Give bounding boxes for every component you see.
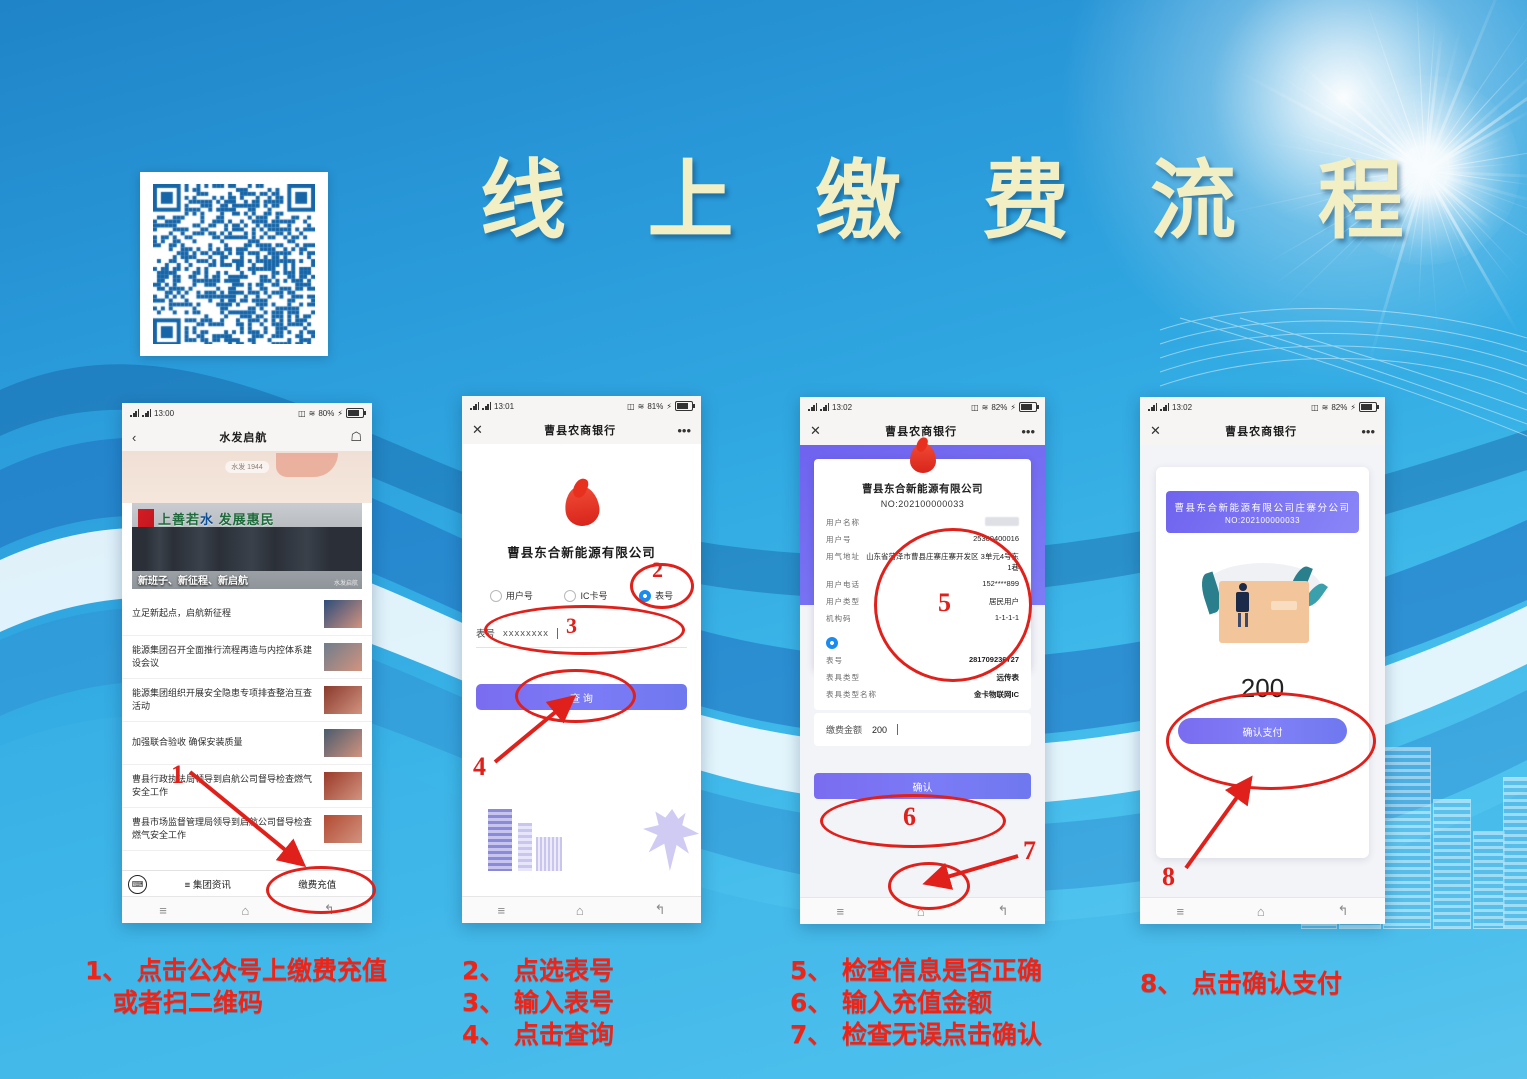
amount-label: 缴费金额: [826, 723, 862, 736]
radio-label: IC卡号: [580, 589, 607, 602]
nav-bar-2: ✕ 曹县农商银行 •••: [462, 416, 701, 444]
phone2-content: 曹县东合新能源有限公司 用户号IC卡号表号 表号 xxxxxxxx 查 询: [462, 444, 701, 897]
hero-slogan: 上善若水 发展惠民: [158, 509, 275, 528]
caption-text: 检查无误点击确认: [842, 1020, 1042, 1049]
recharge-amount-input[interactable]: 缴费金额 200: [814, 713, 1031, 746]
meter-field-row: 表号281709236727: [826, 655, 1019, 666]
branch-no: NO:202100000033: [1225, 516, 1300, 525]
news-list-item[interactable]: 能源集团组织开展安全隐患专项排查整治互查活动: [122, 679, 372, 722]
wifi-icon: ≋: [1322, 403, 1329, 412]
battery-icon: [675, 401, 693, 411]
account-field-row: 用户名称XXXXXX: [826, 517, 1019, 528]
news-item-title: 加强联合验收 确保安装质量: [132, 736, 318, 749]
radio-option-0[interactable]: 用户号: [490, 589, 533, 602]
caption-index: 7、: [790, 1019, 842, 1051]
caption-index: 3、: [462, 987, 514, 1019]
flame-logo-icon: [910, 443, 936, 473]
signal-icon-2: [820, 403, 829, 411]
battery-icon: [1019, 402, 1037, 412]
field-value: 152****899: [982, 579, 1019, 588]
system-nav-4: ≡ ⌂ ↰: [1140, 897, 1385, 924]
account-field-row: 用户类型居民用户: [826, 596, 1019, 607]
close-icon[interactable]: ✕: [810, 423, 821, 439]
news-item-thumbnail: [324, 772, 362, 800]
back-chevron-icon[interactable]: ‹: [132, 430, 136, 445]
person-figure: [1235, 583, 1251, 627]
battery-icon: [346, 408, 364, 418]
meter-field-list: 表号281709236727表具类型远传表表具类型名称金卡物联网IC: [826, 655, 1019, 700]
phone1-content: 水发 1944 上善若水 发展惠民 新班子、新征程、新启航 水发启航 立足新起点…: [122, 451, 372, 897]
phone2-title: 曹县农商银行: [544, 422, 616, 438]
signal-icon: [470, 402, 479, 410]
tab-pay-recharge[interactable]: 缴费充值: [263, 877, 373, 891]
meter-number-input[interactable]: 表号 xxxxxxxx: [476, 626, 687, 648]
caption-index: 2、: [462, 955, 514, 987]
user-icon[interactable]: ☖: [350, 429, 362, 445]
hero-people-photo: [132, 527, 362, 571]
field-key: 用户电话: [826, 579, 860, 590]
phone3-content: 曹县东合新能源有限公司 NO:202100000033 用户名称XXXXXX用户…: [800, 445, 1045, 898]
news-list-item[interactable]: 立足新起点，启航新征程: [122, 593, 372, 636]
account-field-row: 机构码1-1-1-1: [826, 613, 1019, 624]
news-item-thumbnail: [324, 600, 362, 628]
payment-illustration: [1193, 555, 1333, 659]
news-item-title: 曹县行政执法局领导到启航公司督导检查燃气安全工作: [132, 773, 318, 799]
sys-home-icon[interactable]: ⌂: [917, 904, 925, 919]
news-list-item[interactable]: 曹县市场监督管理局领导到启航公司督导检查燃气安全工作: [122, 808, 372, 851]
branch-banner: 曹县东合新能源有限公司庄寨分公司 NO:202100000033: [1166, 491, 1359, 533]
caption-text: 检查信息是否正确: [842, 956, 1042, 985]
sys-home-icon[interactable]: ⌂: [241, 903, 249, 918]
signal-icon-2: [1160, 403, 1169, 411]
system-nav-3: ≡ ⌂ ↰: [800, 897, 1045, 924]
phone-mockup-4: 13:02 ◫ ≋ 82% ⚡ ✕ 曹县农商银行 ••• 曹县东合新能源有限公司…: [1140, 397, 1385, 924]
news-item-title: 能源集团组织开展安全隐患专项排查整治互查活动: [132, 687, 318, 713]
meter-field-row: 表具类型名称金卡物联网IC: [826, 689, 1019, 700]
caption-line: 5、检查信息是否正确: [790, 955, 1042, 987]
caption-1-line1: 点击公众号上缴费充值: [137, 956, 387, 985]
status-bar-3: 13:02 ◫ ≋ 82% ⚡: [800, 397, 1045, 417]
radio-option-1[interactable]: IC卡号: [564, 589, 607, 602]
field-key: 表具类型: [826, 672, 860, 683]
account-field-row: 用户号25300400016: [826, 534, 1019, 545]
mini-tabbar: ⌨ ≡ 集团资讯 缴费充值: [122, 870, 372, 897]
meter-select-block[interactable]: 表号281709236727表具类型远传表表具类型名称金卡物联网IC: [814, 627, 1031, 710]
card-no: NO:202100000033: [826, 499, 1019, 509]
caption-column-3: 5、检查信息是否正确6、输入充值金额7、检查无误点击确认: [790, 955, 1042, 1051]
status-time: 13:02: [832, 403, 852, 412]
battery-percent: 82%: [991, 403, 1007, 412]
building-shape: [1503, 777, 1527, 929]
field-key: 用气地址: [826, 551, 860, 562]
caption-line: 6、输入充值金额: [790, 987, 1042, 1019]
sys-menu-icon[interactable]: ≡: [497, 903, 505, 918]
input-label: 表号: [476, 626, 495, 640]
caption-text: 输入充值金额: [842, 988, 992, 1017]
banner-swash: [276, 453, 338, 477]
news-item-thumbnail: [324, 729, 362, 757]
charging-icon: ⚡: [666, 402, 672, 411]
sim-icon: ◫: [1311, 403, 1319, 412]
radio-label: 表号: [655, 589, 673, 602]
sim-icon: ◫: [627, 402, 635, 411]
status-time: 13:00: [154, 409, 174, 418]
system-nav-2: ≡ ⌂ ↰: [462, 896, 701, 923]
more-icon[interactable]: •••: [677, 423, 691, 438]
field-value: 1-1-1-1: [995, 613, 1019, 622]
sys-back-icon[interactable]: ↰: [324, 902, 335, 918]
keyboard-icon[interactable]: ⌨: [128, 875, 147, 894]
signal-icon-2: [482, 402, 491, 410]
status-time: 13:02: [1172, 403, 1192, 412]
charging-icon: ⚡: [1010, 403, 1016, 412]
news-list-item[interactable]: 曹县行政执法局领导到启航公司督导检查燃气安全工作: [122, 765, 372, 808]
wifi-icon: ≋: [638, 402, 645, 411]
caption-index: 5、: [790, 955, 842, 987]
sys-home-icon[interactable]: ⌂: [1257, 904, 1265, 919]
signal-icon: [1148, 403, 1157, 411]
field-key: 用户名称: [826, 517, 860, 528]
caption-index: 4、: [462, 1019, 514, 1051]
more-icon[interactable]: •••: [1021, 424, 1035, 439]
close-icon[interactable]: ✕: [1150, 423, 1161, 439]
charging-icon: ⚡: [1350, 403, 1356, 412]
caption-line: 2、点选表号: [462, 955, 614, 987]
building-shape: [1473, 831, 1505, 929]
field-key: 用户号: [826, 534, 852, 545]
phone4-content: 曹县东合新能源有限公司庄寨分公司 NO:202100000033 200: [1140, 445, 1385, 898]
caption-index: 6、: [790, 987, 842, 1019]
phone4-title: 曹县农商银行: [1225, 423, 1297, 439]
account-field-row: 用气地址山东省菏泽市曹县庄寨庄寨开发区 3单元4号东1巷: [826, 551, 1019, 573]
phone-mockup-3: 13:02 ◫ ≋ 82% ⚡ ✕ 曹县农商银行 ••• 曹县东合新能源有限公司…: [800, 397, 1045, 924]
news-item-thumbnail: [324, 643, 362, 671]
signal-icon: [130, 409, 139, 417]
package-box: [1219, 581, 1309, 643]
caption-column-1: 1、点击公众号上缴费充值 或者扫二维码: [85, 955, 387, 1019]
news-item-title: 立足新起点，启航新征程: [132, 607, 318, 620]
hero-caption: 新班子、新征程、新启航: [138, 572, 248, 587]
card-company-name: 曹县东合新能源有限公司: [826, 481, 1019, 496]
branch-company-name: 曹县东合新能源有限公司庄寨分公司: [1174, 500, 1350, 514]
wifi-icon: ≋: [982, 403, 989, 412]
payment-card: 曹县东合新能源有限公司庄寨分公司 NO:202100000033 200: [1156, 467, 1369, 858]
caption-area: 1、点击公众号上缴费充值 或者扫二维码 2、点选表号3、输入表号4、点击查询 5…: [0, 950, 1527, 1070]
caption-line: 4、点击查询: [462, 1019, 614, 1051]
query-button[interactable]: 查 询: [476, 684, 687, 710]
charging-icon: ⚡: [337, 409, 343, 418]
status-bar-2: 13:01 ◫ ≋ 81% ⚡: [462, 396, 701, 416]
battery-percent: 82%: [1331, 403, 1347, 412]
field-key: 用户类型: [826, 596, 860, 607]
status-time: 13:01: [494, 402, 514, 411]
sys-menu-icon[interactable]: ≡: [159, 903, 167, 918]
sys-menu-icon[interactable]: ≡: [836, 904, 844, 919]
account-banner: 水发 1944: [122, 451, 372, 503]
news-item-title: 曹县市场监督管理局领导到启航公司督导检查燃气安全工作: [132, 816, 318, 842]
poster-canvas: 线 上 缴 费 流 程 13:00 ◫ ≋ 80% ⚡ ‹ 水发启航 ☖: [0, 0, 1527, 1079]
news-list: 立足新起点，启航新征程能源集团召开全面推行流程再造与内控体系建设会议能源集团组织…: [122, 593, 372, 851]
caption-column-2: 2、点选表号3、输入表号4、点击查询: [462, 955, 614, 1051]
hero-article-image[interactable]: 上善若水 发展惠民 新班子、新征程、新启航 水发启航: [132, 503, 362, 589]
radio-label: 用户号: [506, 589, 533, 602]
package-label: [1271, 601, 1297, 610]
more-icon[interactable]: •••: [1361, 424, 1375, 439]
qr-code-image: [153, 184, 315, 344]
tab-group-news[interactable]: ≡ 集团资讯: [153, 877, 263, 891]
status-bar-1: 13:00 ◫ ≋ 80% ⚡: [122, 403, 372, 423]
wechat-qr-code[interactable]: [140, 172, 328, 356]
field-value: XXXXXX: [985, 517, 1019, 526]
caption-line: 7、检查无误点击确认: [790, 1019, 1042, 1051]
radio-unselected-icon[interactable]: [564, 590, 576, 602]
close-icon[interactable]: ✕: [472, 422, 483, 438]
phone1-title: 水发启航: [219, 429, 267, 445]
selected-radio-icon[interactable]: [826, 637, 838, 649]
building-shape: [1433, 799, 1471, 929]
page-title: 线 上 缴 费 流 程: [480, 130, 1300, 255]
sys-menu-icon[interactable]: ≡: [1176, 904, 1184, 919]
news-list-item[interactable]: 能源集团召开全面推行流程再造与内控体系建设会议: [122, 636, 372, 679]
battery-percent: 80%: [318, 409, 334, 418]
sys-back-icon[interactable]: ↰: [655, 902, 666, 918]
flame-logo-icon: [565, 486, 599, 526]
hero-watermark: 水发启航: [334, 578, 358, 587]
news-item-title: 能源集团召开全面推行流程再造与内控体系建设会议: [132, 644, 318, 670]
radio-unselected-icon[interactable]: [490, 590, 502, 602]
field-value: 金卡物联网IC: [974, 689, 1019, 700]
system-nav-1: ≡ ⌂ ↰: [122, 896, 372, 923]
caption-8-index: 8、: [1140, 968, 1192, 1000]
field-value: 远传表: [997, 672, 1020, 683]
battery-percent: 81%: [647, 402, 663, 411]
caption-text: 点击查询: [514, 1020, 614, 1049]
radio-selected-icon[interactable]: [639, 590, 651, 602]
news-item-thumbnail: [324, 686, 362, 714]
caption-text: 点选表号: [514, 956, 614, 985]
account-field-row: 用户电话152****899: [826, 579, 1019, 590]
wifi-icon: ≋: [309, 409, 316, 418]
text-caret: [557, 628, 558, 639]
signal-icon-2: [142, 409, 151, 417]
account-type-radio-group[interactable]: 用户号IC卡号表号: [462, 589, 701, 602]
text-caret: [897, 724, 898, 735]
field-value: 居民用户: [989, 596, 1019, 607]
field-key: 机构码: [826, 613, 852, 624]
meter-field-row: 表具类型远传表: [826, 672, 1019, 683]
company-name: 曹县东合新能源有限公司: [462, 542, 701, 561]
nav-bar-4: ✕ 曹县农商银行 •••: [1140, 417, 1385, 445]
caption-1-index: 1、: [85, 955, 137, 987]
sim-icon: ◫: [971, 403, 979, 412]
caption-text: 输入表号: [514, 988, 614, 1017]
status-bar-4: 13:02 ◫ ≋ 82% ⚡: [1140, 397, 1385, 417]
banner-date: 水发 1944: [225, 461, 269, 473]
signal-icon: [808, 403, 817, 411]
amount-value: 200: [872, 725, 887, 735]
spark-shape: [643, 809, 699, 871]
phone-mockup-1: 13:00 ◫ ≋ 80% ⚡ ‹ 水发启航 ☖ 水发 1944 上: [122, 403, 372, 923]
confirm-button[interactable]: 确认: [814, 773, 1031, 799]
phone-mockup-2: 13:01 ◫ ≋ 81% ⚡ ✕ 曹县农商银行 ••• 曹县东合新能源有限公司…: [462, 396, 701, 923]
sys-back-icon[interactable]: ↰: [1338, 903, 1349, 919]
caption-1-line2: 或者扫二维码: [113, 988, 263, 1017]
field-value: 25300400016: [973, 534, 1019, 543]
input-value: xxxxxxxx: [503, 628, 549, 639]
field-key: 表号: [826, 655, 843, 666]
battery-icon: [1359, 402, 1377, 412]
field-value: 山东省菏泽市曹县庄寨庄寨开发区 3单元4号东1巷: [866, 551, 1019, 573]
phone2-city-illustration: [462, 797, 701, 871]
caption-column-4: 8、点击确认支付: [1140, 968, 1342, 1000]
field-value: 281709236727: [969, 655, 1019, 664]
caption-8-text: 点击确认支付: [1192, 969, 1342, 998]
payment-amount: 200: [1156, 673, 1369, 704]
building-shape: [1383, 747, 1431, 929]
news-item-thumbnail: [324, 815, 362, 843]
sim-icon: ◫: [298, 409, 306, 418]
news-list-item[interactable]: 加强联合验收 确保安装质量: [122, 722, 372, 765]
sys-back-icon[interactable]: ↰: [998, 903, 1009, 919]
confirm-pay-button[interactable]: 确认支付: [1178, 718, 1347, 744]
caption-line: 3、输入表号: [462, 987, 614, 1019]
radio-option-2[interactable]: 表号: [639, 589, 673, 602]
nav-bar-1: ‹ 水发启航 ☖: [122, 423, 372, 451]
sys-home-icon[interactable]: ⌂: [576, 903, 584, 918]
field-key: 表具类型名称: [826, 689, 877, 700]
